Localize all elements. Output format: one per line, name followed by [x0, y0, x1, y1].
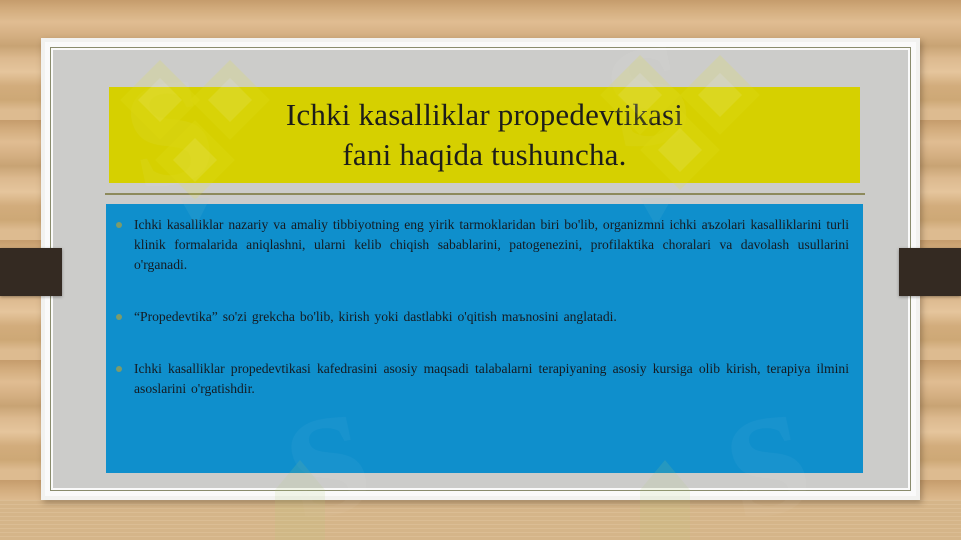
list-item: “Propedevtika” so'zi grekcha bo'lib, kir… [116, 307, 849, 327]
slide-title-block: Ichki kasalliklar propedevtikasi fani ha… [109, 87, 860, 183]
list-item: Ichki kasalliklar propedevtikasi kafedra… [116, 359, 849, 399]
bullet-dot-icon [116, 359, 134, 372]
list-item-text: “Propedevtika” so'zi grekcha bo'lib, kir… [134, 307, 849, 327]
bullet-dot-icon [116, 307, 134, 320]
desk-wood-foreground [0, 500, 961, 540]
list-item-text: Ichki kasalliklar nazariy va amaliy tibb… [134, 215, 849, 275]
title-divider [105, 193, 865, 195]
bullet-dot-icon [116, 215, 134, 228]
slide-surface: Ichki kasalliklar propedevtikasi fani ha… [53, 50, 908, 488]
presentation-slide-frame: Ichki kasalliklar propedevtikasi fani ha… [41, 38, 920, 500]
slide-body-block: Ichki kasalliklar nazariy va amaliy tibb… [106, 204, 863, 473]
list-item: Ichki kasalliklar nazariy va amaliy tibb… [116, 215, 849, 275]
list-item-text: Ichki kasalliklar propedevtikasi kafedra… [134, 359, 849, 399]
page-title: Ichki kasalliklar propedevtikasi fani ha… [280, 95, 689, 174]
frame-mount-right [899, 248, 961, 296]
frame-mount-left [0, 248, 62, 296]
